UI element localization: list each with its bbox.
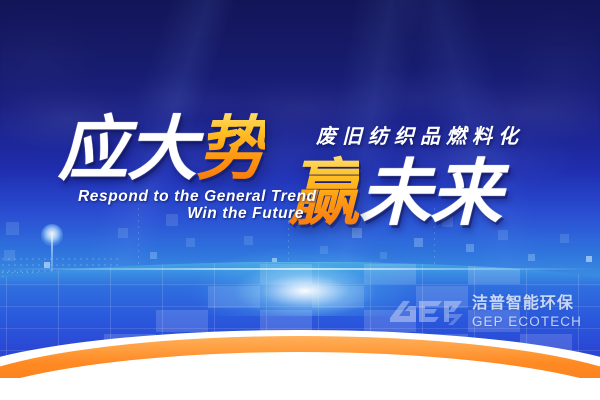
decor-square: [244, 236, 253, 245]
decor-square: [560, 234, 569, 243]
decor-square: [320, 246, 328, 254]
decor-square: [466, 244, 474, 252]
decor-square: [380, 252, 387, 259]
brand-text-block: 洁普智能环保 GEP ECOTECH: [472, 296, 582, 329]
gep-logo-icon: [388, 297, 464, 327]
brand-lockup: 洁普智能环保 GEP ECOTECH: [388, 296, 582, 329]
decor-square: [528, 254, 535, 261]
decor-square: [186, 238, 195, 247]
light-streaks-decor: [0, 0, 600, 300]
decor-square: [414, 238, 423, 247]
decor-square: [470, 196, 477, 203]
bottom-white-band: [0, 378, 600, 400]
decor-square: [118, 228, 128, 238]
decor-square: [300, 206, 308, 214]
decor-square: [498, 230, 508, 240]
brand-name-cn: 洁普智能环保: [472, 296, 582, 312]
glowing-beacon-icon: [41, 224, 63, 246]
promo-banner: 洁普智能环保 GEP ECOTECH 应大势 赢未来 废旧纺织品燃料化 Resp…: [0, 0, 600, 400]
decor-square: [442, 216, 453, 227]
decor-square: [166, 214, 178, 226]
decor-square: [6, 222, 19, 235]
decor-square: [150, 252, 157, 259]
decor-square: [352, 228, 362, 238]
horizon-line: [0, 268, 600, 270]
brand-name-en: GEP ECOTECH: [472, 315, 582, 329]
